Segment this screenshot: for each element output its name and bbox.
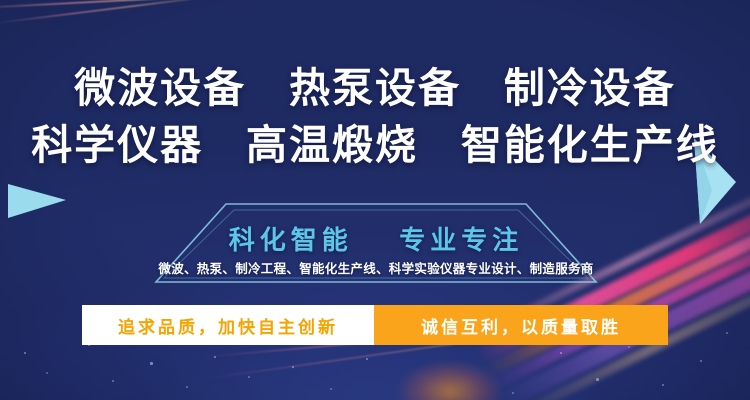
headline-item-refrigeration: 制冷设备 <box>504 65 676 111</box>
promo-banner: 微波设备 热泵设备 制冷设备 科学仪器 高温煅烧 智能化生产线 科化智能 专业专… <box>0 0 750 400</box>
tagline-part-2: 专业专注 <box>399 225 523 255</box>
tagline-part-1: 科化智能 <box>229 225 353 255</box>
headline-item-instruments: 科学仪器 <box>31 122 203 168</box>
headline-item-heatpump: 热泵设备 <box>289 65 461 111</box>
triangle-right-icon <box>8 180 68 220</box>
headline-item-microwave: 微波设备 <box>74 65 246 111</box>
headline-block: 微波设备 热泵设备 制冷设备 科学仪器 高温煅烧 智能化生产线 <box>0 60 750 174</box>
tagline-subtitle: 微波、热泵、制冷工程、智能化生产线、科学实验仪器专业设计、制造服务商 <box>130 258 622 277</box>
slogan-left: 追求品质，加快自主创新 <box>82 305 374 345</box>
tagline-title: 科化智能 专业专注 <box>150 220 602 257</box>
headline-item-calcination: 高温煅烧 <box>246 122 418 168</box>
tagline-panel: 科化智能 专业专注 微波、热泵、制冷工程、智能化生产线、科学实验仪器专业设计、制… <box>150 198 602 290</box>
headline-line-1: 微波设备 热泵设备 制冷设备 <box>0 60 750 117</box>
headline-line-2: 科学仪器 高温煅烧 智能化生产线 <box>0 117 750 174</box>
slogan-bar-group: 追求品质，加快自主创新 诚信互利，以质量取胜 <box>82 305 668 345</box>
headline-item-production-line: 智能化生产线 <box>461 122 719 168</box>
slogan-right: 诚信互利，以质量取胜 <box>374 305 668 345</box>
